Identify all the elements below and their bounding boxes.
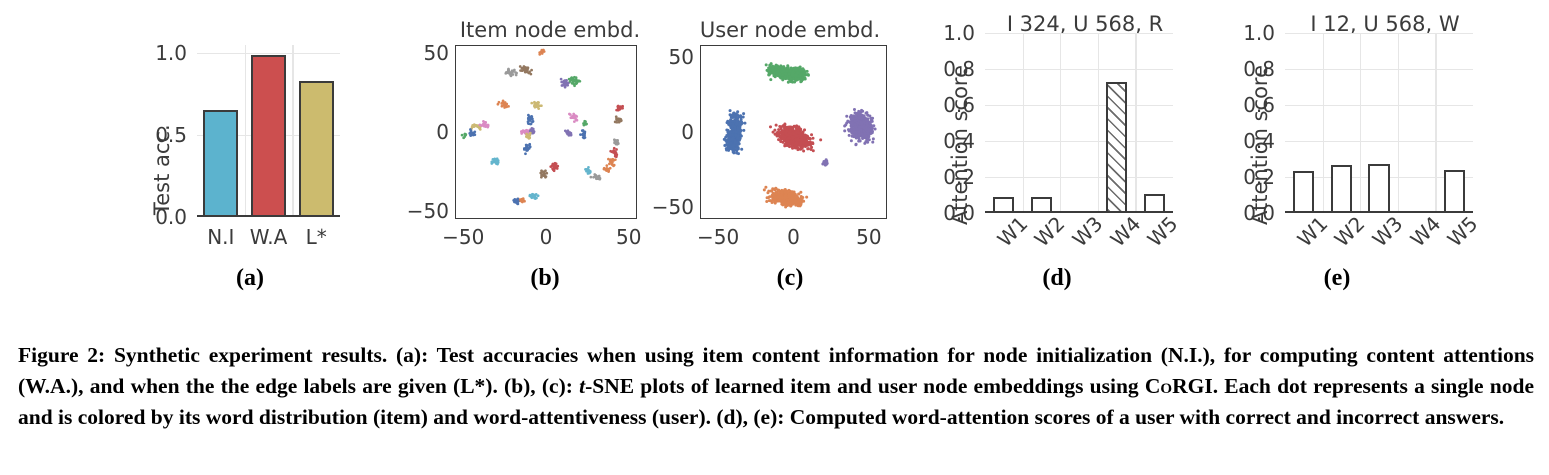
scatter-cluster bbox=[609, 147, 618, 158]
scatter-cluster bbox=[843, 108, 876, 146]
panel-e-axes: 0.00.20.40.60.81.0W1W2W3W4W5 bbox=[1285, 33, 1473, 213]
sublabel-b: (b) bbox=[530, 265, 559, 292]
caption-part-2: -SNE plots of learned item and user node… bbox=[585, 374, 1145, 398]
scatter-cluster bbox=[519, 65, 533, 75]
sublabel-a: (a) bbox=[236, 265, 264, 292]
scatter-cluster bbox=[528, 193, 539, 200]
gridline-horizontal bbox=[985, 141, 1173, 142]
xtick-label-0: −50 bbox=[442, 225, 484, 249]
panel-b-item-node-embd: Item node embd. −50050−50050 bbox=[400, 0, 650, 300]
ytick-label-2: 50 bbox=[393, 41, 449, 65]
scatter-cluster bbox=[523, 143, 532, 155]
panel-c-scatter-points bbox=[701, 46, 886, 218]
scatter-cluster bbox=[613, 138, 620, 145]
gridline-horizontal bbox=[1285, 33, 1473, 34]
gridline-vertical bbox=[1023, 33, 1024, 213]
figure-caption: Figure 2: Synthetic experiment results. … bbox=[18, 340, 1534, 433]
gridline-vertical bbox=[292, 45, 293, 217]
scatter-cluster bbox=[723, 109, 747, 155]
bar-ni bbox=[203, 110, 238, 217]
gridline-vertical bbox=[245, 45, 246, 217]
scatter-cluster bbox=[539, 169, 548, 178]
xtick-label-l: L* bbox=[306, 225, 327, 249]
caption-smallcaps-corgi: CoRGI bbox=[1145, 374, 1213, 398]
scatter-cluster bbox=[527, 114, 535, 126]
bar-l bbox=[299, 81, 334, 217]
gridline-horizontal bbox=[985, 69, 1173, 70]
scatter-cluster bbox=[564, 129, 572, 136]
xtick-label-2: 50 bbox=[856, 225, 881, 249]
caption-label: Figure 2: bbox=[18, 343, 105, 367]
gridline-vertical bbox=[1398, 33, 1399, 213]
ytick-label-0: 0.0 bbox=[1215, 201, 1275, 225]
scatter-cluster bbox=[497, 100, 510, 109]
scatter-cluster bbox=[769, 123, 822, 153]
gridline-vertical bbox=[1135, 33, 1136, 213]
bar-w5 bbox=[1444, 170, 1465, 213]
xtick-label-w5: W5 bbox=[1143, 212, 1183, 252]
scatter-cluster bbox=[538, 49, 545, 56]
xtick-label-1: 0 bbox=[540, 225, 553, 249]
bar-w1 bbox=[1293, 171, 1314, 213]
xtick-label-w4: W4 bbox=[1105, 212, 1145, 252]
scatter-cluster bbox=[530, 101, 542, 110]
ytick-label-3: 0.6 bbox=[1215, 93, 1275, 117]
panel-c-user-node-embd: User node embd. −50050−50050 bbox=[650, 0, 930, 300]
scatter-cluster bbox=[512, 198, 519, 206]
xtick-label-w3: W3 bbox=[1068, 212, 1108, 252]
xtick-label-w1: W1 bbox=[1292, 212, 1332, 252]
panel-b-scatter-points bbox=[456, 46, 636, 218]
gridline-vertical bbox=[1435, 33, 1436, 213]
panel-a-axes: 0.00.51.0N.IW.AL* bbox=[197, 45, 340, 217]
xtick-label-w3: W3 bbox=[1368, 212, 1408, 252]
gridline-vertical bbox=[1098, 33, 1099, 213]
gridline-horizontal bbox=[1285, 141, 1473, 142]
panel-c-title: User node embd. bbox=[695, 18, 885, 42]
panel-a-test-accuracy: Test acc. 0.00.51.0N.IW.AL* bbox=[0, 0, 400, 300]
bar-w2 bbox=[1031, 197, 1052, 213]
xtick-label-1: 0 bbox=[787, 225, 800, 249]
scatter-cluster bbox=[568, 113, 578, 123]
scatter-cluster bbox=[607, 158, 617, 167]
scatter-cluster bbox=[549, 162, 559, 172]
bar-wa bbox=[251, 55, 286, 217]
ytick-label-1: 0.2 bbox=[1215, 165, 1275, 189]
ytick-label-2: 50 bbox=[638, 45, 694, 69]
scatter-cluster bbox=[582, 120, 588, 127]
panel-b-title: Item node embd. bbox=[455, 18, 645, 42]
xtick-label-2: 50 bbox=[616, 225, 641, 249]
bar-w5 bbox=[1144, 194, 1165, 213]
panel-b-axes bbox=[455, 45, 637, 219]
scatter-cluster bbox=[490, 157, 499, 165]
gridline-vertical bbox=[1060, 33, 1061, 213]
scatter-cluster bbox=[763, 186, 808, 209]
gridline-vertical bbox=[1360, 33, 1361, 213]
panel-e-attention-incorrect: I 12, U 568, W Attention score 0.00.20.4… bbox=[1230, 0, 1530, 300]
panel-c-axes bbox=[700, 45, 887, 219]
panel-d-axes: 0.00.20.40.60.81.0W1W2W3W4W5 bbox=[985, 33, 1173, 213]
gridline-horizontal bbox=[985, 177, 1173, 178]
ytick-label-0: −50 bbox=[393, 199, 449, 223]
xtick-label-w5: W5 bbox=[1443, 212, 1483, 252]
panel-d-attention-correct: I 324, U 568, R Attention score 0.00.20.… bbox=[930, 0, 1230, 300]
ytick-label-4: 0.8 bbox=[1215, 57, 1275, 81]
ytick-label-1: 0.5 bbox=[127, 123, 187, 147]
gridline-horizontal bbox=[1285, 69, 1473, 70]
ytick-label-2: 0.4 bbox=[1215, 129, 1275, 153]
gridline-horizontal bbox=[1285, 105, 1473, 106]
ytick-label-5: 1.0 bbox=[1215, 21, 1275, 45]
sublabel-c: (c) bbox=[777, 265, 804, 292]
bar-w2 bbox=[1331, 165, 1352, 213]
scatter-cluster bbox=[579, 129, 586, 139]
scatter-cluster bbox=[461, 133, 467, 140]
scatter-cluster bbox=[821, 158, 828, 166]
scatter-cluster bbox=[614, 115, 623, 123]
ytick-label-5: 1.0 bbox=[915, 21, 975, 45]
xtick-label-w2: W2 bbox=[1030, 212, 1070, 252]
gridline-vertical bbox=[1323, 33, 1324, 213]
scatter-cluster bbox=[615, 105, 624, 112]
gridline-horizontal bbox=[985, 105, 1173, 106]
scatter-cluster bbox=[568, 76, 581, 87]
bar-w1 bbox=[993, 197, 1014, 213]
xtick-label-w2: W2 bbox=[1330, 212, 1370, 252]
sublabel-d: (d) bbox=[1042, 265, 1071, 292]
ytick-label-3: 0.6 bbox=[915, 93, 975, 117]
xtick-label-w4: W4 bbox=[1405, 212, 1445, 252]
scatter-cluster bbox=[504, 68, 518, 78]
ytick-label-2: 1.0 bbox=[127, 41, 187, 65]
xtick-label-0: −50 bbox=[697, 225, 739, 249]
ytick-label-1: 0 bbox=[393, 120, 449, 144]
xtick-label-w1: W1 bbox=[992, 212, 1032, 252]
ytick-label-0: 0.0 bbox=[127, 205, 187, 229]
ytick-label-1: 0 bbox=[638, 120, 694, 144]
sublabel-e: (e) bbox=[1324, 265, 1351, 292]
figure-2: Test acc. 0.00.51.0N.IW.AL* Item node em… bbox=[0, 0, 1549, 475]
bar-w4 bbox=[1106, 82, 1127, 213]
xtick-label-ni: N.I bbox=[207, 225, 234, 249]
scatter-cluster bbox=[603, 164, 612, 173]
ytick-label-0: −50 bbox=[638, 195, 694, 219]
ytick-label-4: 0.8 bbox=[915, 57, 975, 81]
scatter-cluster bbox=[590, 173, 602, 180]
scatter-cluster bbox=[584, 166, 592, 175]
xtick-label-wa: W.A bbox=[250, 225, 288, 249]
ytick-label-2: 0.4 bbox=[915, 129, 975, 153]
bar-w3 bbox=[1368, 164, 1389, 214]
gridline-horizontal bbox=[985, 33, 1173, 34]
scatter-cluster bbox=[765, 62, 810, 84]
ytick-label-0: 0.0 bbox=[915, 201, 975, 225]
ytick-label-1: 0.2 bbox=[915, 165, 975, 189]
